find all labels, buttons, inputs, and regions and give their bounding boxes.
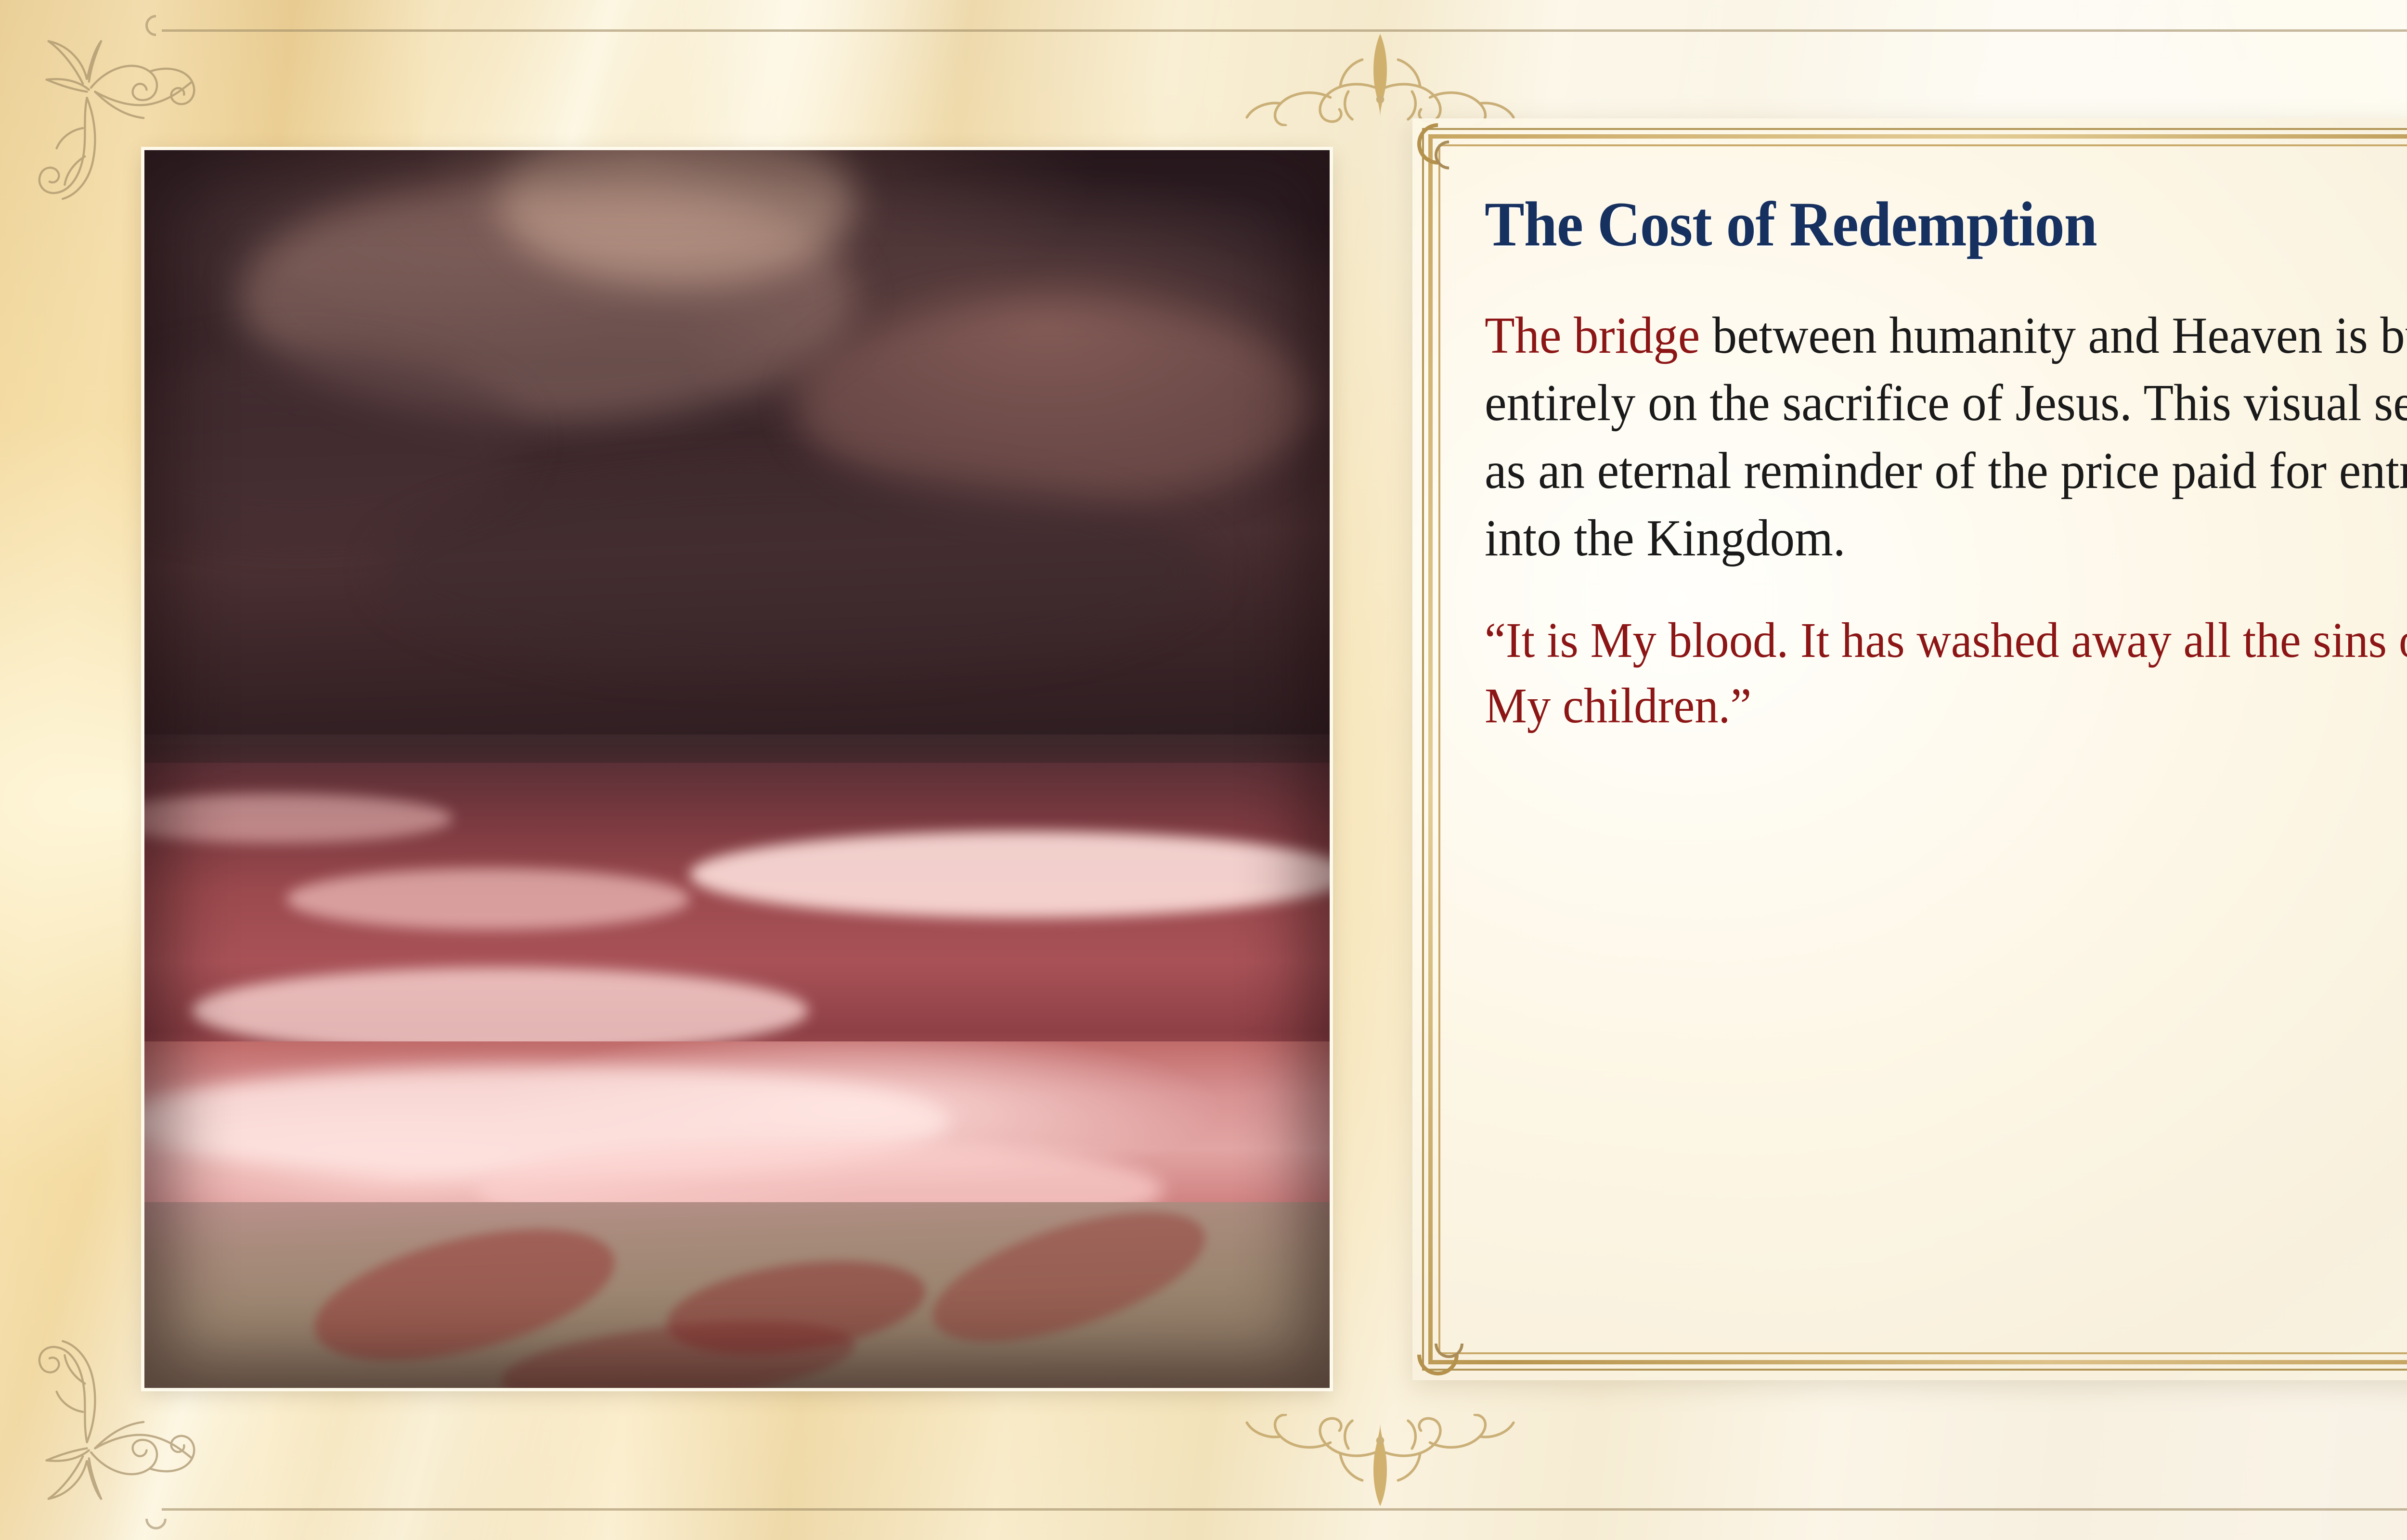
body-paragraph: The bridge between humanity and Heaven i… xyxy=(1485,302,2407,573)
card-content: The Cost of Redemption The bridge betwee… xyxy=(1485,191,2407,1327)
photo-vignette xyxy=(144,150,1330,1388)
slide-root: The Cost of Redemption The bridge betwee… xyxy=(0,0,2407,1540)
bottom-center-fleur-ornament xyxy=(1231,1414,1529,1515)
quote-paragraph: “It is My blood. It has washed away all … xyxy=(1485,608,2407,738)
body-highlight-phrase: The bridge xyxy=(1485,307,1700,364)
page-title: The Cost of Redemption xyxy=(1485,191,2407,258)
content-card: The Cost of Redemption The bridge betwee… xyxy=(1412,118,2407,1380)
blood-sea-photo xyxy=(144,150,1330,1388)
slide-image-frame xyxy=(144,150,1330,1388)
top-center-fleur-ornament xyxy=(1231,25,1529,126)
